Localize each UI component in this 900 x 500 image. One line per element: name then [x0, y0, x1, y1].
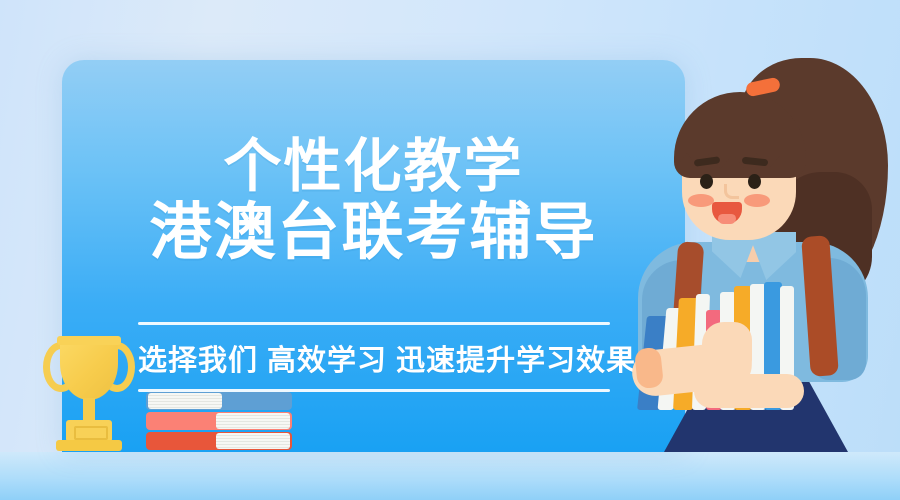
- book-stack: [146, 388, 296, 450]
- book-pages: [148, 393, 222, 409]
- book-bottom: [146, 432, 292, 450]
- book-pages: [216, 413, 290, 429]
- blush-left: [688, 194, 714, 207]
- subtitle-block: 选择我们 高效学习 迅速提升学习效果: [138, 322, 610, 392]
- tongue: [718, 214, 736, 224]
- title-line-1: 个性化教学: [62, 138, 685, 196]
- trophy-base-lower: [56, 440, 122, 451]
- trophy-stem: [83, 398, 95, 422]
- eye-right: [748, 174, 761, 189]
- trophy-icon: [36, 334, 142, 456]
- book-top: [146, 392, 292, 410]
- trophy-cup: [60, 338, 118, 400]
- trophy-rim: [57, 336, 121, 345]
- trophy-plate: [74, 426, 108, 440]
- book-pages: [216, 433, 290, 449]
- promo-banner: 个性化教学 港澳台联考辅导 选择我们 高效学习 迅速提升学习效果: [0, 0, 900, 500]
- sleeve-cuff: [634, 347, 664, 389]
- student-girl-illustration: [608, 46, 900, 452]
- book-middle: [146, 412, 292, 430]
- hand-upper: [702, 322, 752, 378]
- ground-band: [0, 452, 900, 500]
- nose: [724, 184, 739, 199]
- eye-left: [700, 174, 713, 189]
- hand-lower: [694, 374, 804, 408]
- blush-right: [744, 194, 770, 207]
- title-line-2: 港澳台联考辅导: [62, 202, 685, 264]
- headline-title: 个性化教学 港澳台联考辅导: [62, 138, 685, 264]
- subtitle-text: 选择我们 高效学习 迅速提升学习效果: [138, 325, 610, 389]
